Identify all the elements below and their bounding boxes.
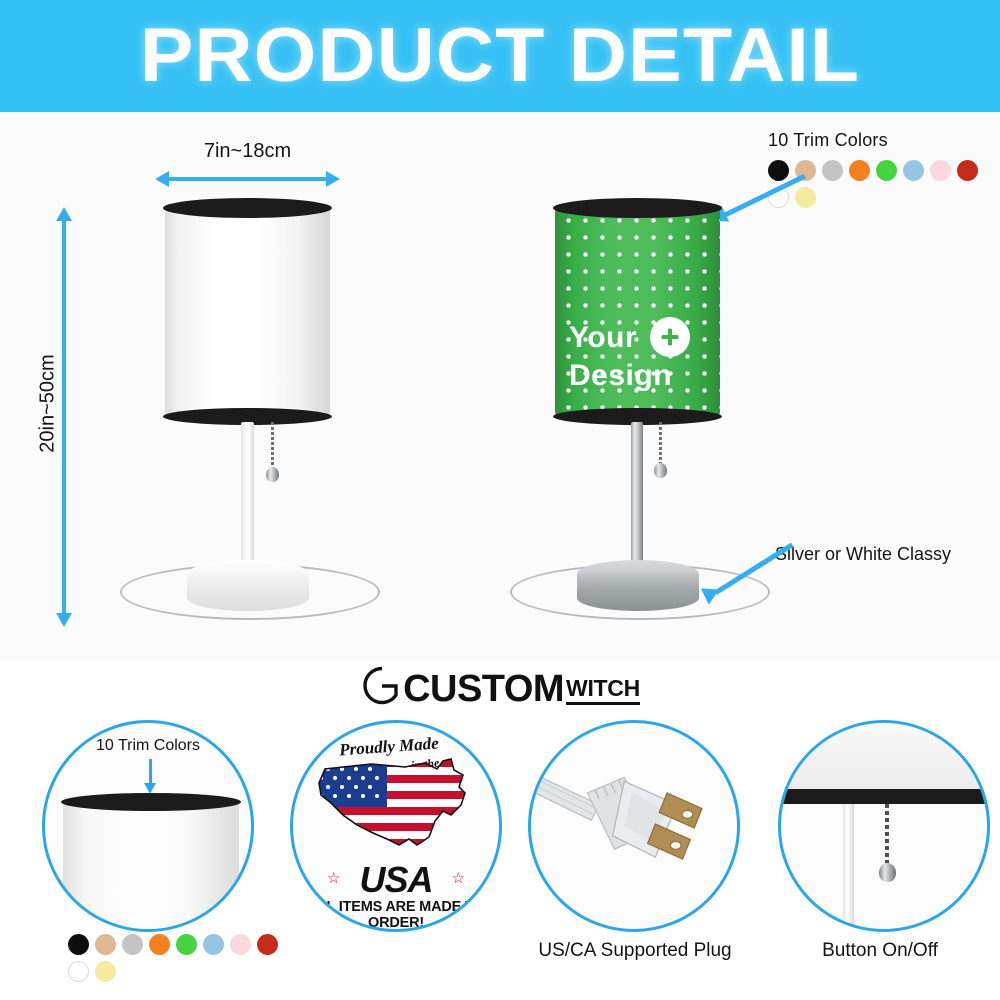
swatch-red[interactable] (957, 160, 978, 181)
plus-icon[interactable] (650, 317, 690, 357)
logo-secondary-text: WITCH (566, 677, 640, 700)
logo-primary-text: CUSTOM (403, 671, 564, 707)
logo-underline (566, 702, 640, 705)
power-plug-icon (531, 723, 737, 929)
feature-panels-row: 10 Trim Colors Proudl (0, 712, 1000, 1000)
shade-design-text-line1: Your (555, 323, 720, 353)
base-bottom-face (187, 585, 309, 611)
made-in-usa-panel: Proudly Made in the (280, 712, 510, 1000)
pull-chain-finial (266, 467, 279, 482)
white-lamp-trim-top (163, 198, 332, 218)
pull-chain-beads (271, 422, 274, 470)
swatch-gray[interactable] (122, 934, 143, 955)
height-arrow-line (62, 221, 66, 613)
swatch-tan[interactable] (95, 934, 116, 955)
main-product-stage: 10 Trim Colors 7in~18cm 20in~50cm (0, 112, 1000, 660)
green-lamp-base (577, 560, 699, 618)
button-panel-caption: Button On/Off (760, 940, 1000, 962)
trim-colors-legend-bottom (68, 934, 298, 982)
white-lamp (110, 182, 400, 652)
base-finish-pointer-arrow (700, 552, 810, 612)
button-panel: Button On/Off (760, 712, 1000, 1000)
page-title: PRODUCT DETAIL (140, 18, 860, 94)
trim-colors-panel-label: 10 Trim Colors (45, 737, 251, 755)
made-in-usa-circle: Proudly Made in the (290, 720, 502, 932)
swatch-orange[interactable] (149, 934, 170, 955)
button-panel-stem (843, 804, 854, 932)
swatch-pink[interactable] (930, 160, 951, 181)
trim-colors-swatch-row-bottom (68, 934, 300, 982)
trim-colors-panel-shade (63, 801, 239, 931)
swatch-light-blue[interactable] (203, 934, 224, 955)
trim-colors-panel-arrow-line (149, 759, 152, 785)
green-lamp-trim-top (553, 198, 722, 218)
base-bottom-face (577, 585, 699, 611)
trim-colors-panel-circle: 10 Trim Colors (42, 720, 254, 932)
plug-panel-caption: US/CA Supported Plug (510, 940, 760, 962)
width-dimension-label: 7in~18cm (155, 140, 340, 163)
trim-colors-panel-arrow-head (144, 783, 156, 794)
swatch-green[interactable] (876, 160, 897, 181)
brand-logo: CUSTOM WITCH (0, 660, 1000, 712)
swatch-light-blue[interactable] (903, 160, 924, 181)
shade-design-text-line2: Design (555, 361, 720, 391)
usa-badge-subtext: ALL ITEMS ARE MADE TO ORDER! (293, 899, 499, 931)
swatch-yellow[interactable] (95, 961, 116, 982)
pull-chain-finial (654, 463, 667, 478)
swatch-pink[interactable] (230, 934, 251, 955)
height-arrow-head-top (56, 207, 72, 221)
height-arrow-head-bottom (56, 613, 72, 627)
swatch-green[interactable] (176, 934, 197, 955)
swatch-black[interactable] (68, 934, 89, 955)
button-panel-shade (778, 720, 990, 791)
logo-c-mark-icon (360, 665, 406, 707)
white-lamp-shade (165, 206, 330, 418)
height-dimension: 20in~50cm (30, 207, 90, 627)
trim-colors-label: 10 Trim Colors (768, 130, 1000, 151)
logo-secondary-wrap: WITCH (566, 677, 640, 707)
swatch-white[interactable] (68, 961, 89, 982)
trim-colors-panel: 10 Trim Colors (20, 712, 270, 1000)
width-arrow-line (167, 177, 328, 181)
header-banner: PRODUCT DETAIL (0, 0, 1000, 112)
pull-chain-beads (659, 422, 662, 466)
button-panel-chain-beads[interactable] (885, 804, 889, 866)
height-dimension-label: 20in~50cm (37, 334, 60, 474)
usa-star-right-icon: ☆ (452, 869, 465, 887)
button-panel-trim (778, 789, 990, 804)
plug-panel: US/CA Supported Plug (510, 712, 760, 1000)
swatch-orange[interactable] (849, 160, 870, 181)
shade-surface (165, 206, 330, 418)
logo-inner: CUSTOM WITCH (360, 665, 640, 707)
green-lamp-shade: Your Design (555, 206, 720, 418)
plug-panel-circle (528, 720, 740, 932)
button-panel-chain-finial[interactable] (879, 863, 896, 882)
swatch-gray[interactable] (822, 160, 843, 181)
white-lamp-base (187, 560, 309, 618)
usa-badge-word: USA (293, 859, 499, 901)
button-panel-circle (778, 720, 990, 932)
usa-badge: Proudly Made in the (293, 723, 499, 929)
trim-colors-panel-trim-ring (61, 793, 241, 811)
swatch-red[interactable] (257, 934, 278, 955)
usa-flag-map-icon (313, 753, 485, 857)
